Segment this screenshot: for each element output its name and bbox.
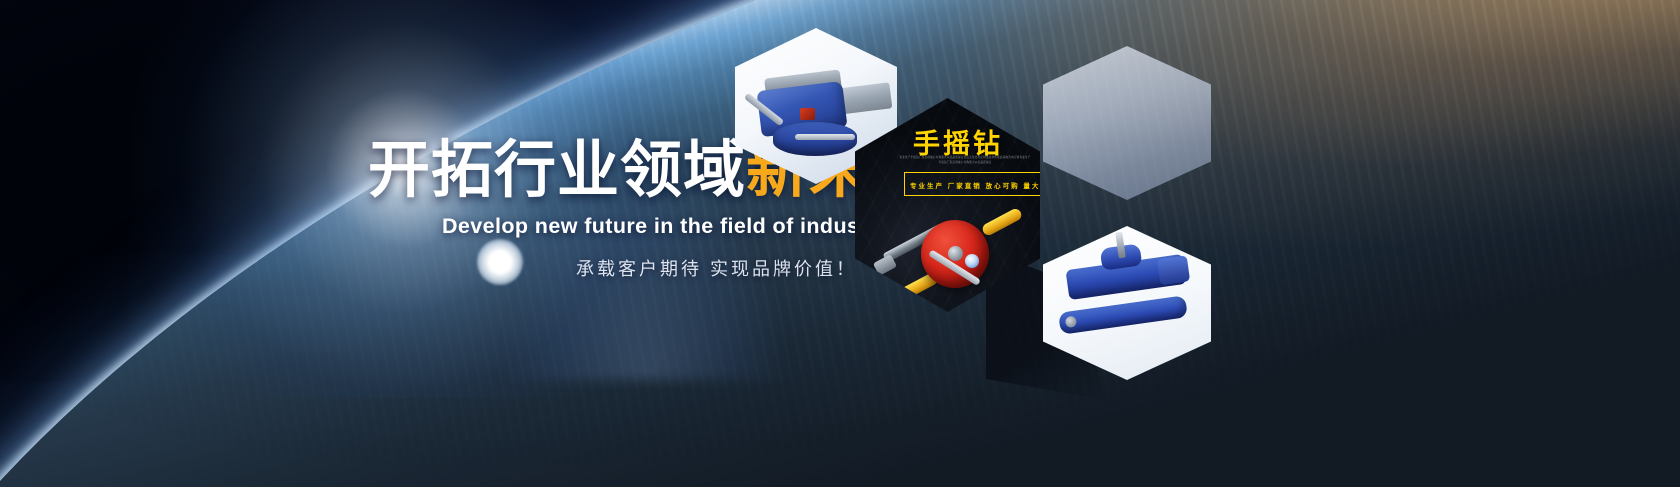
drill-label-sticker: [965, 254, 979, 268]
headline-white-text: 开拓行业领域: [368, 136, 746, 205]
drill-front-grip: [981, 207, 1024, 237]
headline-subtitle: Develop new future in the field of indus…: [442, 214, 888, 239]
drill-hub: [948, 246, 963, 261]
hero-banner: 开拓行业领域新未来! Develop new future in the fie…: [0, 0, 1680, 487]
poster-fine-print: 专业生产手摇钻厂家直销放心可购量大从优品质保证售后无忧支持定制批发零售欢迎来电咨…: [899, 156, 1031, 166]
headline-tagline: 承载客户期待 实现品牌价值！: [576, 255, 888, 281]
poster-feature-strip: 专业生产 厂家直销 放心可购 量大从优: [904, 172, 1040, 196]
poster-strip-text: 专业生产 厂家直销 放心可购 量大从优: [910, 183, 1040, 190]
clamp-lower-arm: [1058, 295, 1188, 335]
vise-screw: [795, 134, 855, 140]
vise-brand-badge: [800, 108, 815, 120]
